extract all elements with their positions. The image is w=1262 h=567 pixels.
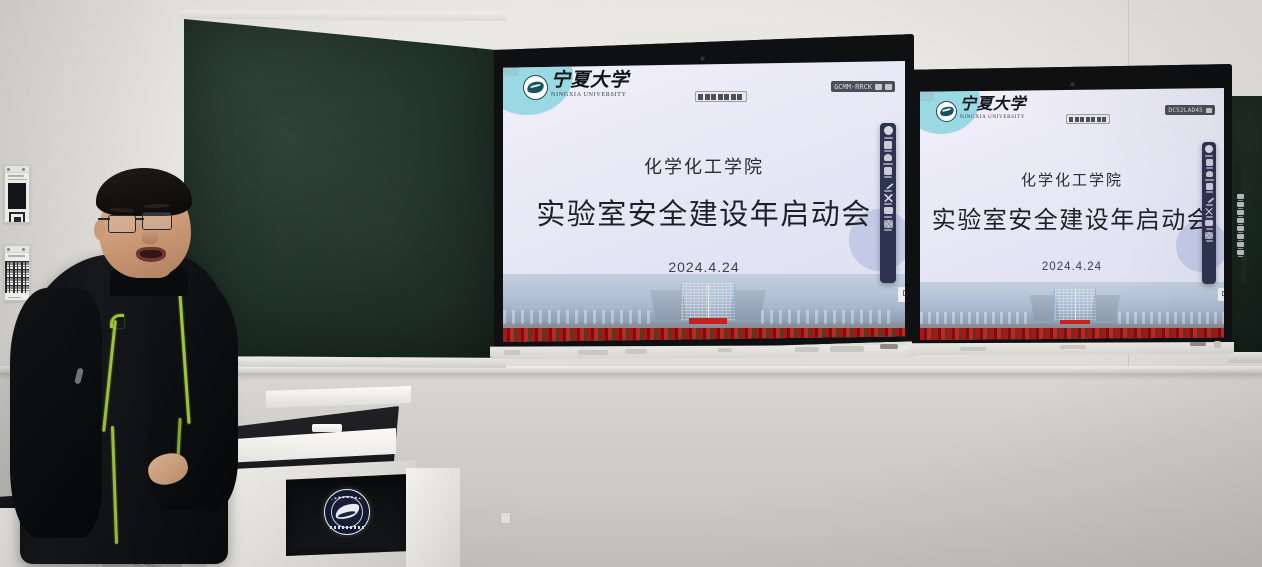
classroom-photo-scene: 宁夏大学 NINGXIA UNIVERSITY 化学化工学院 实验室安全建设年启…: [0, 0, 1262, 567]
slide-date: 2024.4.24: [920, 261, 1224, 273]
presenter-nose: [142, 230, 158, 244]
secondary-blackboard-control-strip[interactable]: [1235, 165, 1246, 283]
secondary-blackboard-button-6[interactable]: [1237, 234, 1244, 239]
right-screen-status-badge: DC52LAD45: [1165, 105, 1215, 115]
wps-item-label: [884, 229, 892, 231]
wps-item-scissors[interactable]: [1202, 208, 1216, 219]
secondary-blackboard-button-7[interactable]: [1237, 242, 1244, 247]
photo-flagpole: [1075, 290, 1076, 324]
print-icon: [884, 207, 893, 214]
grid-icon: [884, 220, 893, 228]
wps-item-label: [1206, 216, 1213, 218]
wps-item-note[interactable]: [880, 167, 896, 179]
wps-item-label: [1205, 155, 1213, 157]
slide-subtitle: 化学化工学院: [920, 169, 1224, 190]
right-screen-camera-icon: [1070, 82, 1075, 87]
status-badge-text: DC52LAD45: [1168, 106, 1203, 114]
pen-icon: [1204, 194, 1214, 204]
wps-cast-button[interactable]: [898, 287, 905, 302]
wps-item-label: [883, 163, 893, 165]
wps-item-label: [884, 150, 892, 152]
slide-title: 实验室安全建设年启动会: [503, 191, 905, 233]
logo-chinese-name: 宁夏大学: [960, 97, 1026, 113]
screen-floating-toolbar[interactable]: [1066, 114, 1110, 124]
presenter-mouth-opening: [140, 250, 162, 258]
slide-date: 2024.4.24: [503, 259, 905, 275]
toolbar-cell[interactable]: [1091, 117, 1095, 122]
grid-icon: [1205, 232, 1213, 239]
right-chin-ports[interactable]: [1190, 342, 1206, 346]
scissors-icon: [884, 194, 893, 202]
presenter-left-arm: [10, 288, 102, 538]
podium-handle[interactable]: [312, 424, 342, 432]
toolbar-cell[interactable]: [698, 94, 703, 100]
save-icon: [884, 141, 892, 149]
wps-item-print[interactable]: [1202, 220, 1216, 230]
wps-item-pen[interactable]: [880, 180, 896, 192]
print-icon: [1205, 220, 1213, 226]
wps-item-save[interactable]: [1202, 159, 1216, 170]
wps-side-toolbar[interactable]: [880, 123, 896, 283]
wps-cast-button[interactable]: [1218, 288, 1224, 301]
wps-item-label: [1206, 191, 1213, 193]
blackboard-top-frame: [182, 10, 506, 21]
presenter-zipper-piping-left-curve: [110, 314, 124, 328]
university-seal-icon: [936, 101, 957, 122]
screen-floating-toolbar[interactable]: [695, 91, 747, 102]
slide-university-logo: 宁夏大学 NINGXIA UNIVERSITY: [936, 97, 1026, 122]
wps-item-label: [884, 203, 892, 205]
wps-item-label: [1206, 167, 1213, 169]
wps-item-avatar[interactable]: [1202, 145, 1216, 157]
mute-icon: [875, 84, 882, 90]
wps-item-note[interactable]: [1202, 183, 1216, 194]
logo-chinese-name: 宁夏大学: [551, 71, 629, 90]
logo-english-name: NINGXIA UNIVERSITY: [960, 115, 1026, 120]
wps-item-pen[interactable]: [1202, 195, 1216, 206]
secondary-blackboard-button-3[interactable]: [1237, 210, 1244, 215]
left-chin-sensor: [718, 348, 732, 352]
avatar-icon: [1205, 145, 1213, 153]
wps-item-save[interactable]: [880, 141, 896, 153]
cast-icon: [1222, 291, 1224, 296]
toolbar-cell[interactable]: [731, 94, 736, 100]
ningxia-university-seal: [324, 489, 370, 535]
toolbar-cell[interactable]: [1069, 117, 1073, 122]
toolbar-cell[interactable]: [1075, 117, 1079, 122]
avatar-icon: [884, 126, 893, 135]
left-chin-speaker-3: [795, 347, 819, 352]
left-screen-panel: 宁夏大学 NINGXIA UNIVERSITY 化学化工学院 实验室安全建设年启…: [503, 61, 905, 342]
wps-item-grid[interactable]: [1202, 232, 1216, 243]
presenter-ear: [94, 220, 106, 240]
wps-item-label: [884, 137, 893, 139]
left-chin-speaker-4: [830, 346, 864, 352]
toolbar-cell[interactable]: [718, 94, 723, 100]
display-icon: [1206, 108, 1212, 113]
wps-item-grid[interactable]: [880, 220, 896, 232]
right-display-screen[interactable]: 宁夏大学 NINGXIA UNIVERSITY 化学化工学院 实验室安全建设年启…: [912, 64, 1232, 350]
wps-item-avatar[interactable]: [880, 126, 896, 139]
poster-dot-icon: [7, 248, 10, 251]
slide-campus-photo: [920, 282, 1224, 340]
wps-item-share[interactable]: [1202, 171, 1216, 181]
glasses-left-lens-icon: [108, 215, 136, 233]
slide-title: 实验室安全建设年启动会: [920, 200, 1224, 235]
presenter: [14, 168, 240, 567]
secondary-blackboard-button-2[interactable]: [1237, 202, 1244, 207]
slide-university-logo: 宁夏大学 NINGXIA UNIVERSITY: [523, 71, 629, 100]
wps-side-toolbar[interactable]: [1202, 142, 1216, 284]
status-badge-text: GCMM-RRCK: [834, 83, 872, 91]
toolbar-cell[interactable]: [1080, 117, 1084, 122]
slide-campus-photo: [503, 274, 905, 342]
toolbar-cell[interactable]: [724, 94, 729, 100]
glasses-temple-icon: [98, 218, 110, 220]
note-icon: [884, 167, 892, 175]
wps-item-label: [1206, 240, 1213, 242]
university-seal-icon: [523, 75, 548, 100]
secondary-blackboard-button-5[interactable]: [1237, 226, 1244, 231]
wps-item-label: [884, 216, 892, 218]
toolbar-cell[interactable]: [1086, 117, 1090, 122]
right-chin-speaker-2: [1060, 345, 1086, 349]
wps-item-label: [1206, 228, 1213, 230]
pen-icon: [882, 178, 893, 189]
scissors-icon: [1205, 208, 1213, 215]
glasses-right-lens-icon: [142, 212, 172, 230]
display-icon: [885, 84, 892, 90]
glasses-bridge-icon: [135, 218, 144, 220]
wps-item-label: [1206, 204, 1213, 206]
secondary-blackboard-button-8[interactable]: [1237, 250, 1244, 255]
toolbar-cell[interactable]: [1097, 117, 1101, 122]
wps-item-label: [884, 190, 892, 192]
cast-icon: [903, 290, 906, 296]
wall-outlet[interactable]: [500, 512, 511, 524]
left-chin-ports[interactable]: [880, 344, 898, 349]
podium-rear-panel: [266, 386, 411, 408]
wps-item-share[interactable]: [880, 154, 896, 165]
wps-item-print[interactable]: [880, 207, 896, 218]
left-screen-status-badge: GCMM-RRCK: [831, 81, 895, 92]
wps-item-label: [1205, 179, 1214, 181]
save-icon: [1206, 159, 1213, 166]
right-chin-speaker: [960, 347, 986, 351]
secondary-blackboard-button-4[interactable]: [1237, 218, 1244, 223]
toolbar-cell[interactable]: [1102, 117, 1106, 122]
podium-right-extension: [406, 468, 460, 567]
left-chin-badge: [504, 350, 520, 355]
seal-bottom-text: [330, 526, 363, 529]
left-chin-speaker-2: [625, 349, 647, 354]
toolbar-cell[interactable]: [705, 94, 710, 100]
left-chin-speaker: [578, 350, 608, 355]
left-display-screen[interactable]: 宁夏大学 NINGXIA UNIVERSITY 化学化工学院 实验室安全建设年启…: [494, 34, 914, 354]
note-icon: [1206, 183, 1213, 190]
wps-item-scissors[interactable]: [880, 194, 896, 206]
slide-subtitle: 化学化工学院: [503, 153, 905, 179]
toolbar-cell[interactable]: [711, 94, 716, 100]
share-icon: [884, 154, 892, 161]
left-screen-camera-icon: [700, 56, 705, 61]
right-chin-button[interactable]: [1214, 341, 1221, 348]
right-screen-panel: 宁夏大学 NINGXIA UNIVERSITY 化学化工学院 实验室安全建设年启…: [920, 88, 1224, 340]
toolbar-cell[interactable]: [737, 94, 742, 100]
secondary-blackboard-button-1[interactable]: [1237, 194, 1244, 199]
share-icon: [1206, 171, 1213, 177]
logo-english-name: NINGXIA UNIVERSITY: [551, 92, 629, 98]
poster-dot-icon: [7, 168, 10, 171]
